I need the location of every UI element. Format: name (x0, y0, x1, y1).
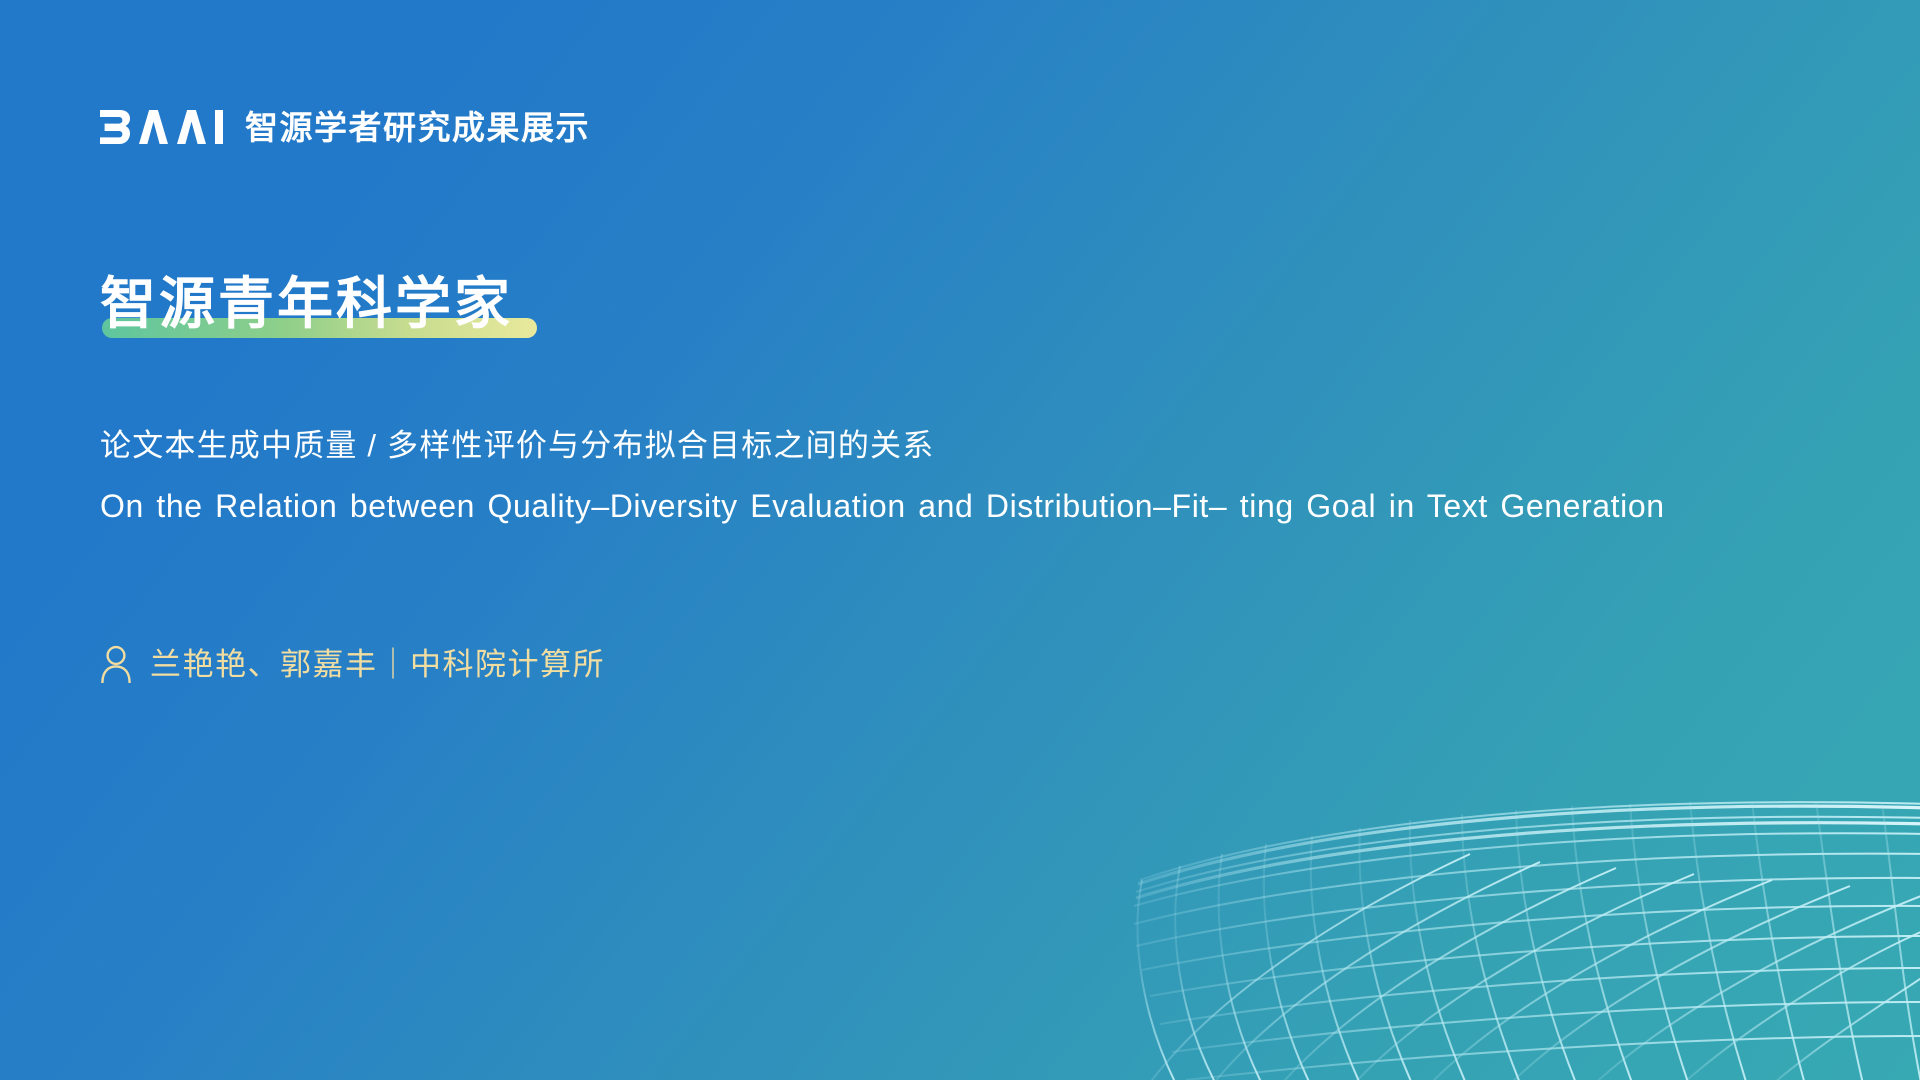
logo-letter-i-icon (215, 110, 223, 144)
brand-title: 智源学者研究成果展示 (245, 111, 590, 144)
paper-title-chinese: 论文本生成中质量 / 多样性评价与分布拟合目标之间的关系 (100, 425, 934, 467)
award-heading-label: 智源青年科学家 (100, 272, 513, 336)
person-icon (100, 645, 132, 683)
wireframe-mesh-svg (1050, 788, 1920, 1080)
logo-letter-a1-icon (139, 110, 168, 144)
logo-letter-a2-icon (177, 110, 206, 144)
author-affiliation-label: 兰艳艳、郭嘉丰｜中科院计算所 (150, 649, 605, 680)
award-heading: 智源青年科学家 (100, 272, 513, 336)
baai-wordmark-icon (100, 110, 223, 144)
brand-header: 智源学者研究成果展示 (100, 110, 590, 144)
slide-canvas: 智源学者研究成果展示 智源青年科学家 论文本生成中质量 / 多样性评价与分布拟合… (0, 0, 1920, 1080)
author-row: 兰艳艳、郭嘉丰｜中科院计算所 (100, 645, 605, 683)
paper-title-english: On the Relation between Quality–Diversit… (100, 482, 1720, 532)
logo-letter-b-icon (100, 110, 130, 144)
wireframe-mesh-icon (1050, 788, 1920, 1080)
